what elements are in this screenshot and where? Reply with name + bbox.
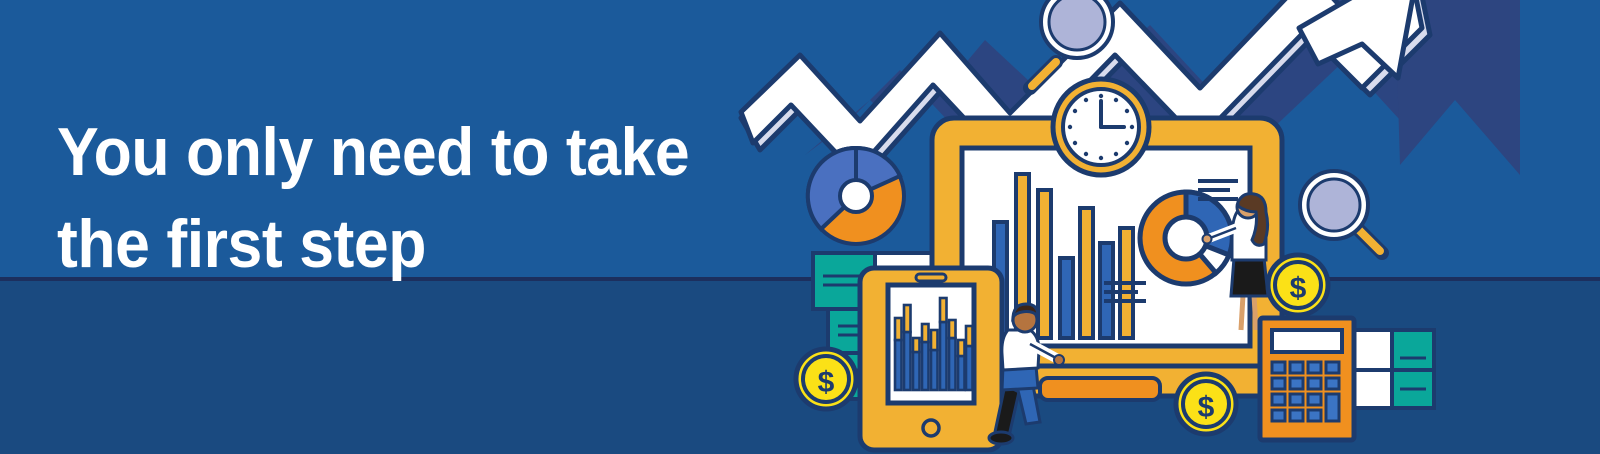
business-analytics-illustration: $ $ $: [0, 0, 1600, 454]
coin-left: $: [796, 349, 856, 409]
coin-symbol: $: [1290, 272, 1307, 305]
promo-banner: You only need to take the first step: [0, 0, 1600, 454]
calculator[interactable]: [1260, 318, 1354, 440]
coin-symbol: $: [818, 366, 835, 399]
magnifier-right-icon: [1300, 171, 1382, 253]
coin-symbol: $: [1198, 391, 1215, 424]
analog-clock: [1053, 79, 1149, 175]
pie-chart-small: [808, 148, 904, 244]
calculator-display: [1272, 330, 1342, 352]
coin-right: $: [1268, 255, 1328, 315]
tablet[interactable]: [860, 268, 1002, 450]
coin-mid: $: [1176, 374, 1236, 434]
